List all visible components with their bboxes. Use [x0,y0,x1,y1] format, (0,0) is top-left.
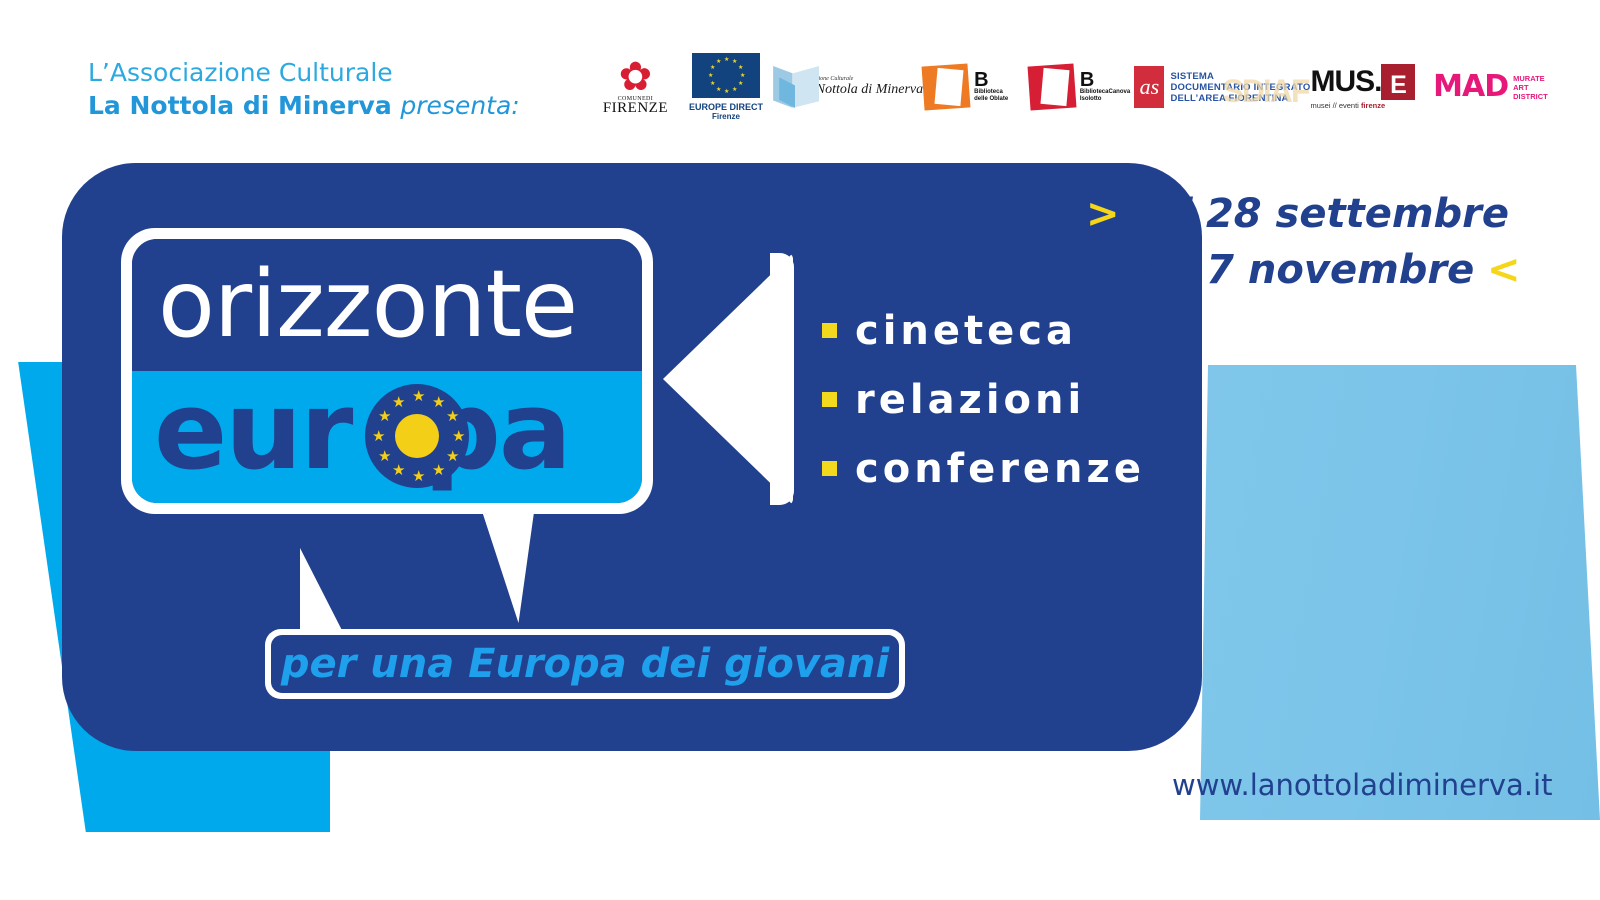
canova-book-icon [1029,65,1075,109]
bullet-square-icon [822,323,837,338]
partner-logos-strip: ✿ COMUNEDI FIRENZE ★ ★ ★ ★ ★ ★ ★ ★ ★ ★ ★… [592,48,1552,126]
muse-sub-a: musei // eventi [1310,101,1360,110]
list-item-label: cineteca [855,308,1077,354]
eu-stars-circle-icon: ★ ★ ★ ★ ★ ★ ★ ★ ★ ★ ★ ★ [365,384,469,488]
tagline-text: per una Europa dei giovani [281,641,889,687]
logo-europe-direct: ★ ★ ★ ★ ★ ★ ★ ★ ★ ★ ★ ★ EUROPE DIRECT Fi… [679,48,773,126]
sdiaf-mark-icon: as [1134,66,1164,108]
oblate-line2: delle Oblate [974,96,1008,103]
header-line-org: La Nottola di Minerva presenta: [88,89,520,122]
chevron-right-icon: > [1086,191,1120,237]
eu-center-disc [395,414,439,458]
europa-part-before: eur [154,369,351,494]
bullet-square-icon [822,461,837,476]
date-start-prefix: dal [1132,191,1206,237]
poster-root: L’Associazione Culturale La Nottola di M… [0,0,1600,900]
chevron-left-icon: < [1487,247,1521,293]
muse-sub-b: firenze [1361,101,1385,110]
bullet-square-icon [822,392,837,407]
giglio-fiorentino-icon: ✿ [619,58,653,96]
list-item: cineteca [822,296,1145,365]
date-start-value: 28 settembre [1206,191,1509,237]
mad-line2: ART [1513,83,1548,92]
date-line-start: > dal 28 settembre [1086,186,1521,242]
header-org-name: La Nottola di Minerva [88,91,392,120]
mad-word: MAD [1433,72,1508,102]
date-line-end: al 17 novembre < [1086,242,1521,298]
header-presenta: presenta: [400,91,519,120]
europe-direct-subtitle: Firenze [712,112,740,121]
program-list: cineteca relazioni conferenze [822,296,1145,503]
europe-direct-title: EUROPE DIRECT [689,102,763,112]
firenze-label: FIRENZE [603,100,668,117]
logo-mus-e: MUS. E musei // eventi firenze [1310,48,1433,126]
oblate-letter-b: B [974,71,1008,89]
list-item: relazioni [822,365,1145,434]
list-item-label: conferenze [855,446,1145,492]
right-lightblue-trapezoid [1200,365,1600,820]
word-europa: europa [154,357,570,503]
muse-word: MUS. [1310,67,1381,97]
canova-line1: BibliotecaCanova [1080,89,1130,96]
mad-line1: MURATE [1513,74,1548,83]
oblate-book-icon [923,65,969,109]
date-end-prefix: al [1130,247,1178,293]
logo-biblioteca-delle-oblate: B Biblioteca delle Oblate [923,48,1029,126]
logo-biblioteca-canova-isolotto: B BibliotecaCanova Isolotto [1029,48,1135,126]
nottola-book-icon [773,66,791,108]
tagline-pill: per una Europa dei giovani [265,629,905,699]
oblate-line1: Biblioteca [974,89,1008,96]
list-item: conferenze [822,434,1145,503]
sdiaf-ghost-word: SDIAF [1222,73,1308,110]
list-item-label: relazioni [855,377,1085,423]
logo-sdiaf: as SDIAF SISTEMA DOCUMENTARIO INTEGRATO … [1134,48,1310,126]
logo-comune-di-firenze: ✿ COMUNEDI FIRENZE [592,48,679,126]
play-triangle-edge [770,253,794,505]
event-dates: > dal 28 settembre al 17 novembre < [1086,186,1521,298]
canova-letter-b: B [1080,71,1130,89]
date-end-value: 17 novembre [1178,247,1474,293]
logo-murate-art-district: MAD MURATE ART DISTRICT [1433,48,1552,126]
sdiaf-mark-letters: as [1140,74,1160,100]
canova-line2: Isolotto [1080,96,1130,103]
header-presenter: L’Associazione Culturale La Nottola di M… [88,56,520,122]
logo-la-nottola-di-minerva: Associazione Culturale La Nottola di Min… [773,48,923,126]
header-line-associazione: L’Associazione Culturale [88,56,520,89]
eu-flag-icon: ★ ★ ★ ★ ★ ★ ★ ★ ★ ★ ★ ★ [692,53,760,98]
muse-boxed-e: E [1381,64,1415,100]
mad-line3: DISTRICT [1513,92,1548,101]
website-url[interactable]: www.lanottoladiminerva.it [1172,768,1552,802]
